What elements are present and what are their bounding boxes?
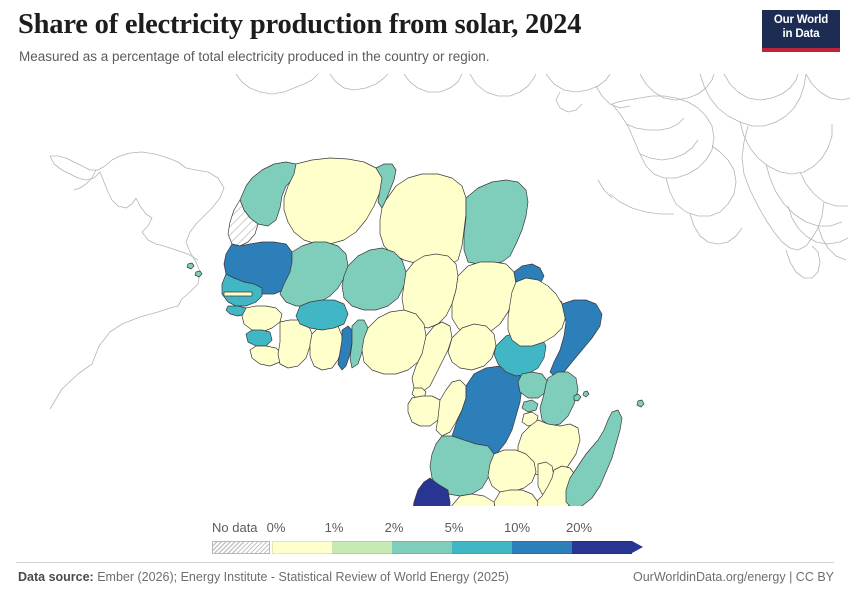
country-zimbabwe[interactable] (494, 490, 538, 506)
legend-bin-5[interactable] (572, 541, 632, 554)
country-madagascar[interactable] (566, 410, 622, 506)
legend-tick-1: 1% (325, 520, 344, 535)
page-title: Share of electricity production from sol… (18, 9, 581, 41)
country-egypt[interactable] (464, 180, 528, 264)
country-gambia[interactable] (224, 292, 252, 296)
country-uganda[interactable] (518, 372, 548, 398)
country-car[interactable] (448, 324, 496, 370)
country-ghana[interactable] (310, 324, 342, 370)
country-guinea[interactable] (242, 306, 282, 332)
country-cape-verde[interactable] (187, 263, 194, 269)
chart-header: Share of electricity production from sol… (0, 0, 850, 74)
legend-no-data[interactable]: No data (212, 520, 274, 554)
footer-divider (16, 562, 834, 563)
map-svg[interactable] (0, 74, 850, 506)
legend-bin-row[interactable] (272, 541, 643, 554)
logo-line-1: Our World (762, 14, 840, 28)
country-comoros-2[interactable] (583, 391, 589, 397)
country-rwanda[interactable] (522, 400, 538, 412)
legend-bin-0[interactable] (272, 541, 332, 554)
country-burkina-faso[interactable] (296, 300, 348, 330)
legend-no-data-label: No data (212, 520, 274, 535)
legend-tick-3: 5% (445, 520, 464, 535)
footer-owid-link[interactable]: OurWorldinData.org/energy | CC BY (633, 570, 834, 584)
country-nigeria[interactable] (362, 310, 426, 374)
legend-overflow-arrow (632, 541, 643, 553)
logo-red-rule (762, 48, 840, 52)
country-liberia[interactable] (250, 346, 282, 366)
country-sudan[interactable] (452, 262, 516, 336)
footer-data-source: Data source: Ember (2026); Energy Instit… (18, 570, 509, 584)
country-algeria[interactable] (284, 158, 382, 244)
country-gabon[interactable] (408, 396, 442, 426)
choropleth-map[interactable] (0, 74, 850, 506)
footer-data-source-label: Data source: (18, 570, 94, 584)
country-sierra-leone[interactable] (246, 330, 272, 346)
country-niger[interactable] (342, 248, 406, 310)
country-cape-verde-2[interactable] (195, 271, 202, 277)
chart-footer: Data source: Ember (2026); Energy Instit… (0, 556, 850, 600)
footer-data-source-text: Ember (2026); Energy Institute - Statist… (97, 570, 509, 584)
country-ivory-coast[interactable] (278, 320, 312, 368)
country-botswana[interactable] (448, 494, 496, 506)
logo-line-2: in Data (762, 28, 840, 42)
africa-countries[interactable] (187, 158, 644, 506)
legend-tick-4: 10% (504, 520, 530, 535)
legend-tick-5: 20% (566, 520, 592, 535)
legend-no-data-swatch[interactable] (212, 541, 270, 554)
legend-color-scale[interactable]: 0% 1% 2% 5% 10% 20% (272, 520, 642, 556)
country-mauritius[interactable] (637, 400, 644, 407)
legend-bin-4[interactable] (512, 541, 572, 554)
our-world-in-data-logo[interactable]: Our World in Data (762, 10, 840, 52)
legend-tick-0: 0% (267, 520, 286, 535)
legend-bin-1[interactable] (332, 541, 392, 554)
country-ethiopia[interactable] (508, 278, 566, 346)
legend-tick-2: 2% (385, 520, 404, 535)
legend-bin-2[interactable] (392, 541, 452, 554)
page-subtitle: Measured as a percentage of total electr… (19, 49, 490, 64)
map-legend: No data 0% 1% 2% 5% 10% 20% (0, 506, 850, 556)
legend-bin-3[interactable] (452, 541, 512, 554)
